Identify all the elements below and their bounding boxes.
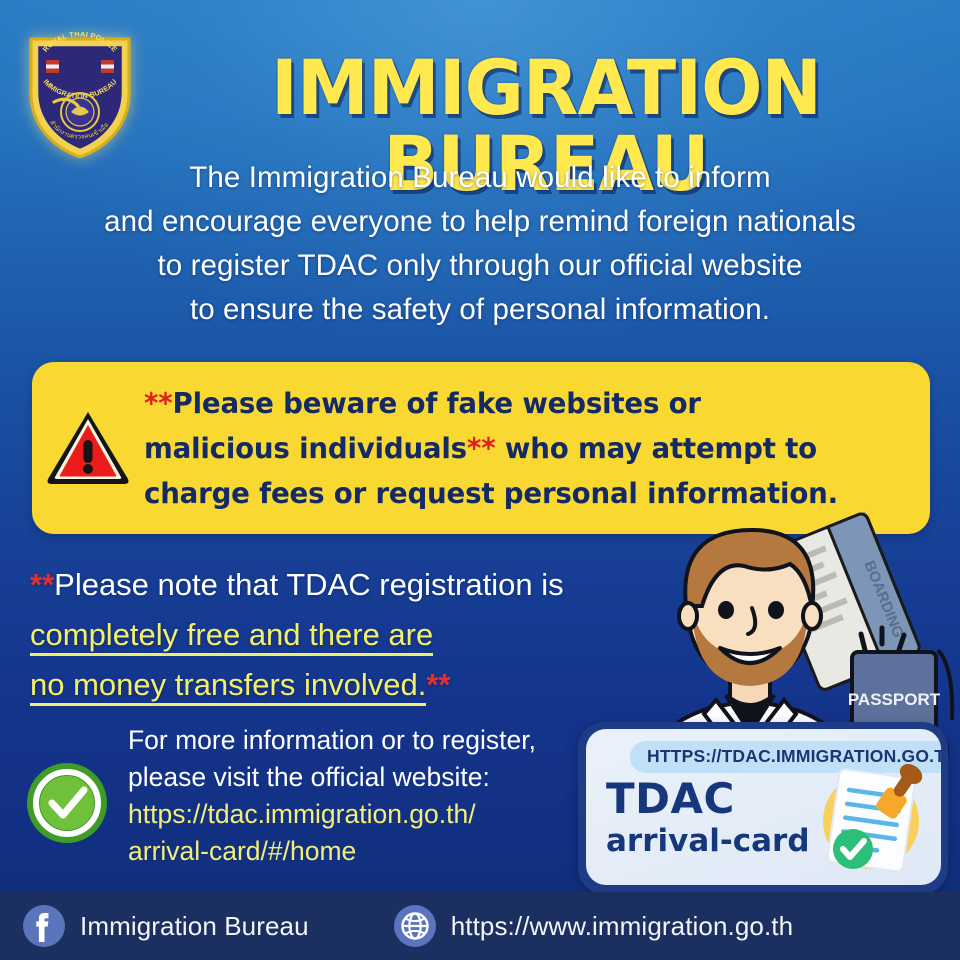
note-line-2: completely free and there are (30, 610, 670, 660)
cta-line-2: please visit the official website: (128, 759, 586, 796)
warning-line-2a: malicious individuals (144, 432, 467, 465)
note-block: **Please note that TDAC registration is … (30, 560, 670, 710)
footer-facebook[interactable]: Immigration Bureau (22, 904, 309, 948)
warning-triangle-icon (32, 409, 144, 487)
cta-url-line-1[interactable]: https://tdac.immigration.go.th/ (128, 796, 586, 833)
footer-website-label[interactable]: https://www.immigration.go.th (451, 911, 793, 942)
footer: Immigration Bureau https://www.immigrati… (0, 892, 960, 960)
cta-line-1: For more information or to register, (128, 722, 586, 759)
facebook-icon[interactable] (22, 904, 66, 948)
cta-text: For more information or to register, ple… (122, 722, 586, 870)
warning-line-2: malicious individuals** who may attempt … (144, 426, 887, 471)
tdac-card-subtitle: arrival-card (606, 823, 810, 859)
intro-line-2: and encourage everyone to help remind fo… (30, 200, 930, 244)
globe-icon[interactable] (393, 904, 437, 948)
intro-line-1: The Immigration Bureau would like to inf… (30, 156, 930, 200)
note-line-1: **Please note that TDAC registration is (30, 560, 670, 610)
tdac-card[interactable]: HTTPS://TDAC.IMMIGRATION.GO.TH TDAC arri… (578, 722, 948, 894)
stamped-document-check-icon (805, 759, 933, 877)
footer-website[interactable]: https://www.immigration.go.th (393, 904, 793, 948)
intro-paragraph: The Immigration Bureau would like to inf… (30, 156, 930, 332)
note-line-1-text: Please note that TDAC registration is (54, 567, 563, 602)
warning-line-1-text: Please beware of fake websites or (173, 387, 701, 420)
warning-line-1: **Please beware of fake websites or (144, 381, 887, 426)
tdac-card-inner: HTTPS://TDAC.IMMIGRATION.GO.TH TDAC arri… (586, 729, 941, 885)
footer-facebook-label[interactable]: Immigration Bureau (80, 911, 309, 942)
passport-label: PASSPORT (848, 690, 941, 709)
royal-thai-police-immigration-bureau-badge-icon: ROYAL THAI POLICE IMMIGRATION BUREAU สำน… (24, 32, 136, 158)
note-highlight-1: completely free and there are (30, 617, 433, 656)
tdac-card-title: TDAC (606, 777, 735, 821)
green-check-circle-icon (26, 722, 122, 844)
intro-line-3: to register TDAC only through our offici… (30, 244, 930, 288)
warning-asterisk-open: ** (144, 387, 173, 420)
warning-asterisk-close: ** (467, 432, 496, 465)
poster-root: ROYAL THAI POLICE IMMIGRATION BUREAU สำน… (0, 0, 960, 960)
cta-block: For more information or to register, ple… (26, 722, 586, 870)
note-line-3: no money transfers involved.** (30, 660, 670, 710)
header: ROYAL THAI POLICE IMMIGRATION BUREAU สำน… (0, 24, 960, 142)
note-asterisk-open: ** (30, 567, 54, 602)
intro-line-4: to ensure the safety of personal informa… (30, 288, 930, 332)
warning-text: **Please beware of fake websites or mali… (144, 381, 906, 516)
note-highlight-2: no money transfers involved. (30, 667, 426, 706)
warning-line-2b: who may attempt to (495, 432, 817, 465)
cta-url-line-2[interactable]: arrival-card/#/home (128, 833, 586, 870)
note-asterisk-close: ** (426, 667, 450, 702)
